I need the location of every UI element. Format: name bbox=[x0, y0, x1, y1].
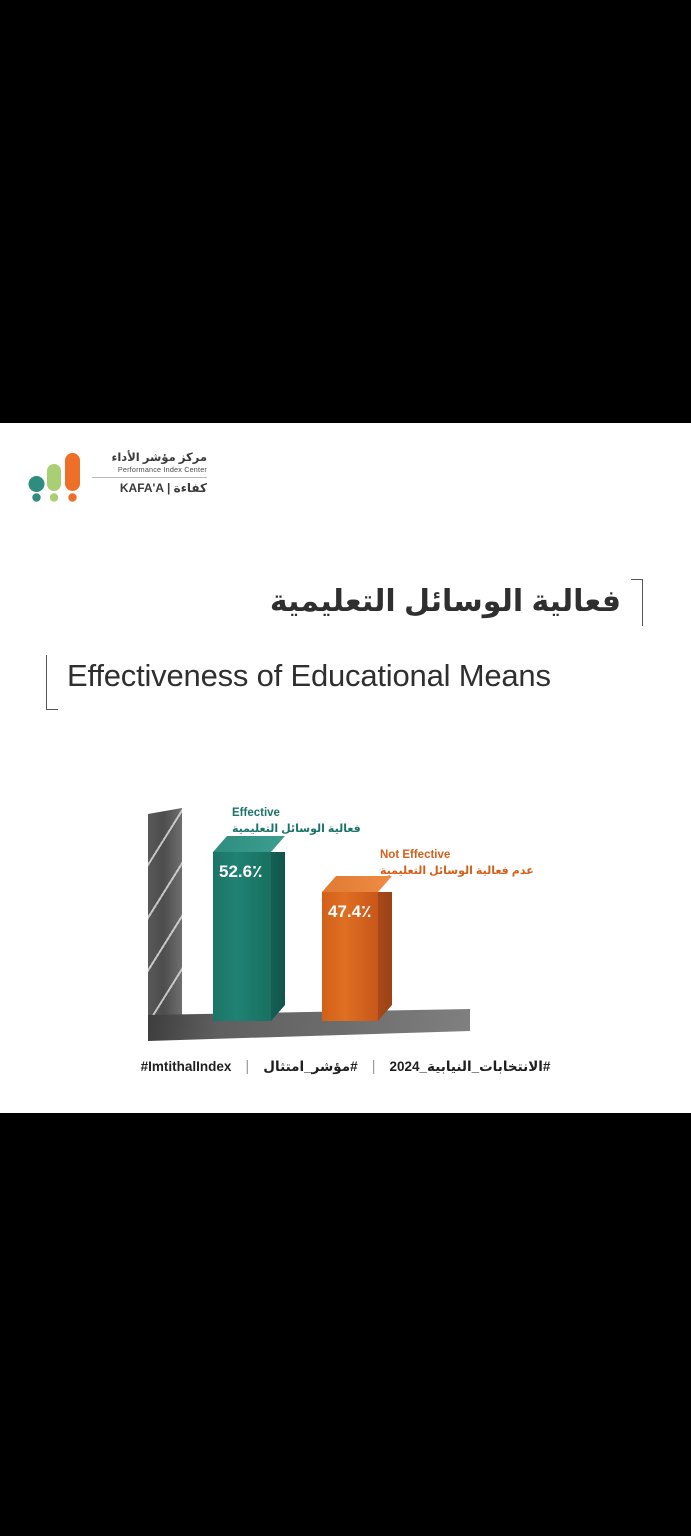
logo-tagline: KAFA'A | كفاءة bbox=[92, 481, 207, 496]
page-title-english-wrap: Effectiveness of Educational Means bbox=[46, 651, 551, 710]
legend-effective-label-ar: فعالية الوسائل التعليمية bbox=[232, 821, 361, 837]
footer-hashtags: #ImtithalIndex | #مؤشر_امتثال | #الانتخا… bbox=[0, 1058, 691, 1075]
legend-effective: Effective فعالية الوسائل التعليمية bbox=[232, 806, 361, 837]
chart-back-wall bbox=[148, 808, 182, 1020]
bar-not-effective[interactable]: 47.4٪ bbox=[322, 876, 392, 1021]
page-title-english: Effectiveness of Educational Means bbox=[58, 651, 551, 710]
logo-divider bbox=[92, 477, 207, 478]
legend-effective-label-en: Effective bbox=[232, 806, 361, 821]
logo-arabic-name: مركز مؤشر الأداء bbox=[92, 451, 207, 465]
legend-not-effective-label-en: Not Effective bbox=[380, 848, 534, 863]
infographic-card: مركز مؤشر الأداء Performance Index Cente… bbox=[0, 423, 691, 1113]
bar-effective-top-face bbox=[213, 836, 285, 852]
page-title-arabic-wrap: فعالية الوسائل التعليمية bbox=[270, 581, 643, 626]
legend-not-effective: Not Effective عدم فعالية الوسائل التعليم… bbox=[380, 848, 534, 879]
screenshot-root: مركز مؤشر الأداء Performance Index Cente… bbox=[0, 0, 691, 1536]
footer-separator-2: | bbox=[372, 1058, 376, 1075]
kafaa-logo-mark-icon bbox=[27, 451, 89, 507]
bar-effective[interactable]: 52.6٪ bbox=[213, 836, 285, 1021]
page-title-arabic: فعالية الوسائل التعليمية bbox=[270, 581, 631, 626]
bar-effective-side-face bbox=[271, 852, 285, 1021]
hashtag-parliamentary-elections-2024[interactable]: #الانتخابات_النيابية_2024 bbox=[390, 1059, 551, 1075]
hashtag-moasher-imtithal[interactable]: #مؤشر_امتثال bbox=[263, 1059, 357, 1075]
title-bracket-left bbox=[46, 655, 58, 710]
bar-chart: 52.6٪ 47.4٪ Effective فعالية الوسائل الت… bbox=[0, 773, 691, 1043]
logo-english-name: Performance Index Center bbox=[92, 465, 207, 475]
bar-not-effective-side-face bbox=[378, 892, 392, 1021]
bar-not-effective-value-label: 47.4٪ bbox=[328, 902, 371, 922]
chart-floor bbox=[148, 1009, 470, 1041]
title-bracket-right bbox=[631, 579, 643, 626]
brand-logo-text: مركز مؤشر الأداء Performance Index Cente… bbox=[92, 451, 207, 496]
legend-not-effective-label-ar: عدم فعالية الوسائل التعليمية bbox=[380, 863, 534, 879]
brand-logo: مركز مؤشر الأداء Performance Index Cente… bbox=[27, 451, 207, 509]
bar-effective-value-label: 52.6٪ bbox=[219, 862, 262, 882]
footer-separator-1: | bbox=[245, 1058, 249, 1075]
hashtag-imtithal-index[interactable]: #ImtithalIndex bbox=[141, 1059, 232, 1074]
